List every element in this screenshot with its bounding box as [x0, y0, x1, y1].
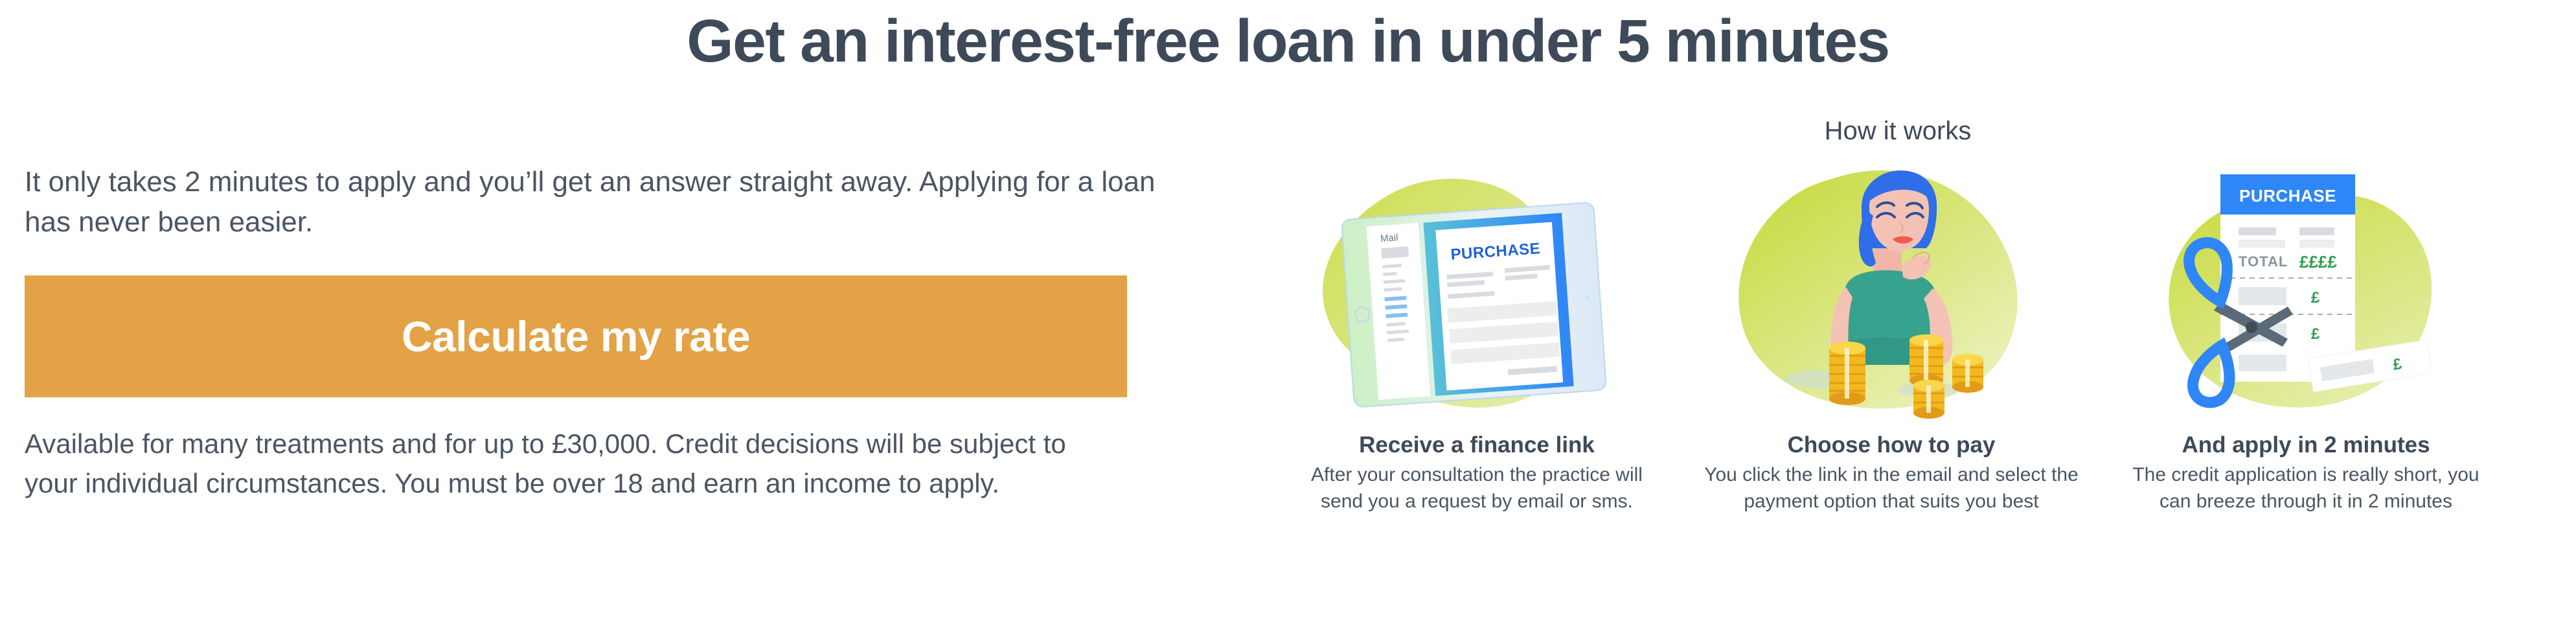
calculate-my-rate-button[interactable]: Calculate my rate	[25, 275, 1127, 397]
step-choose-how-to-pay: Choose how to pay You click the link in …	[1684, 151, 2099, 515]
coin-stack	[1829, 342, 1865, 405]
instalment-amount: £	[2311, 289, 2320, 307]
steps-list: Mail	[1270, 151, 2559, 515]
receipt-line	[2299, 227, 2334, 235]
receipt-line	[2299, 240, 2334, 248]
coin-stack	[1913, 380, 1944, 419]
receipt-line	[2239, 227, 2276, 235]
step-receive-finance-link: Mail	[1270, 151, 1684, 515]
instalment-amount: £	[2311, 325, 2320, 343]
instalment-row	[2239, 355, 2286, 371]
purchase-receipt: PURCHASE TOTAL ££££ £	[2220, 174, 2355, 382]
woman-coins-svg	[1723, 151, 2060, 430]
total-label: TOTAL	[2239, 253, 2288, 270]
coin-stack	[1952, 354, 1983, 393]
scissor-pivot	[2246, 321, 2257, 333]
step-apply-in-2-minutes: PURCHASE TOTAL ££££ £	[2099, 151, 2513, 515]
tablet-email-illustration: Mail	[1308, 151, 1645, 430]
tablet-device: Mail	[1341, 202, 1606, 407]
instalment-row	[2239, 287, 2286, 305]
lead-paragraph: It only takes 2 minutes to apply and you…	[25, 162, 1165, 243]
left-column: It only takes 2 minutes to apply and you…	[25, 162, 1184, 504]
coin-stack	[1909, 334, 1943, 386]
receipt-scissors-illustration: PURCHASE TOTAL ££££ £	[2137, 151, 2474, 430]
tablet-email-svg: Mail	[1308, 151, 1645, 430]
step-title: Choose how to pay	[1788, 432, 1996, 458]
how-it-works-column: How it works	[1270, 117, 2565, 515]
step-title: And apply in 2 minutes	[2182, 432, 2430, 458]
mail-label: Mail	[1380, 232, 1398, 244]
step-description: You click the link in the email and sele…	[1704, 462, 2079, 515]
mail-item	[1381, 246, 1409, 259]
purchase-heading: PURCHASE	[2239, 186, 2336, 205]
page-title: Get an interest-free loan in under 5 min…	[0, 8, 2576, 74]
step-description: The credit application is really short, …	[2118, 462, 2494, 515]
step-description: After your consultation the practice wil…	[1289, 462, 1665, 515]
receipt-line	[2239, 240, 2285, 248]
woman-with-coins-illustration	[1723, 151, 2060, 430]
how-it-works-title: How it works	[1270, 117, 2526, 146]
receipt-scissors-svg: PURCHASE TOTAL ££££ £	[2137, 151, 2474, 430]
disclaimer-text: Available for many treatments and for up…	[25, 424, 1113, 504]
step-title: Receive a finance link	[1359, 432, 1595, 458]
total-amount: ££££	[2299, 252, 2337, 272]
hero-section: Get an interest-free loan in under 5 min…	[0, 0, 2576, 628]
